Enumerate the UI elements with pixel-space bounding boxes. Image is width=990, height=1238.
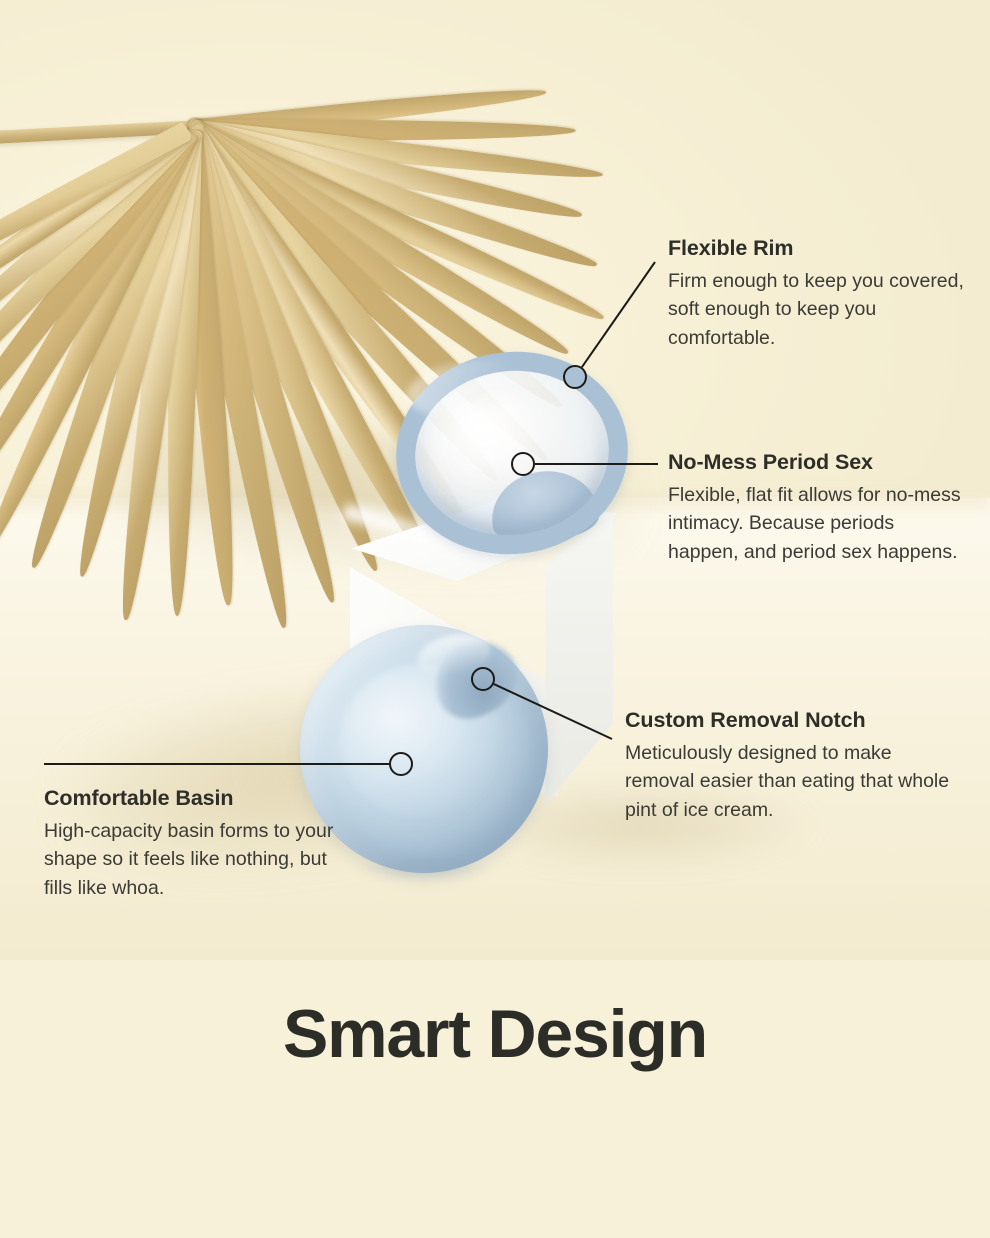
callout-body: Flexible, flat fit allows for no-mess in… bbox=[668, 481, 968, 567]
callout-title: Flexible Rim bbox=[668, 236, 968, 261]
callout-no-mess-period-sex: No-Mess Period Sex Flexible, flat fit al… bbox=[668, 450, 968, 567]
infographic-canvas: Flexible Rim Firm enough to keep you cov… bbox=[0, 0, 990, 1238]
callout-title: No-Mess Period Sex bbox=[668, 450, 968, 475]
callout-flexible-rim: Flexible Rim Firm enough to keep you cov… bbox=[668, 236, 968, 353]
page-headline: Smart Design bbox=[0, 1000, 990, 1068]
callout-body: Meticulously designed to make removal ea… bbox=[625, 739, 965, 825]
callout-body: High-capacity basin forms to your shape … bbox=[44, 817, 344, 903]
menstrual-disc-rim-view bbox=[385, 339, 640, 568]
callout-body: Firm enough to keep you covered, soft en… bbox=[668, 267, 968, 353]
callout-custom-removal-notch: Custom Removal Notch Meticulously design… bbox=[625, 708, 965, 825]
callout-title: Custom Removal Notch bbox=[625, 708, 965, 733]
callout-title: Comfortable Basin bbox=[44, 786, 344, 811]
disc-contact-shadow bbox=[360, 859, 489, 881]
callout-comfortable-basin: Comfortable Basin High-capacity basin fo… bbox=[44, 786, 344, 903]
